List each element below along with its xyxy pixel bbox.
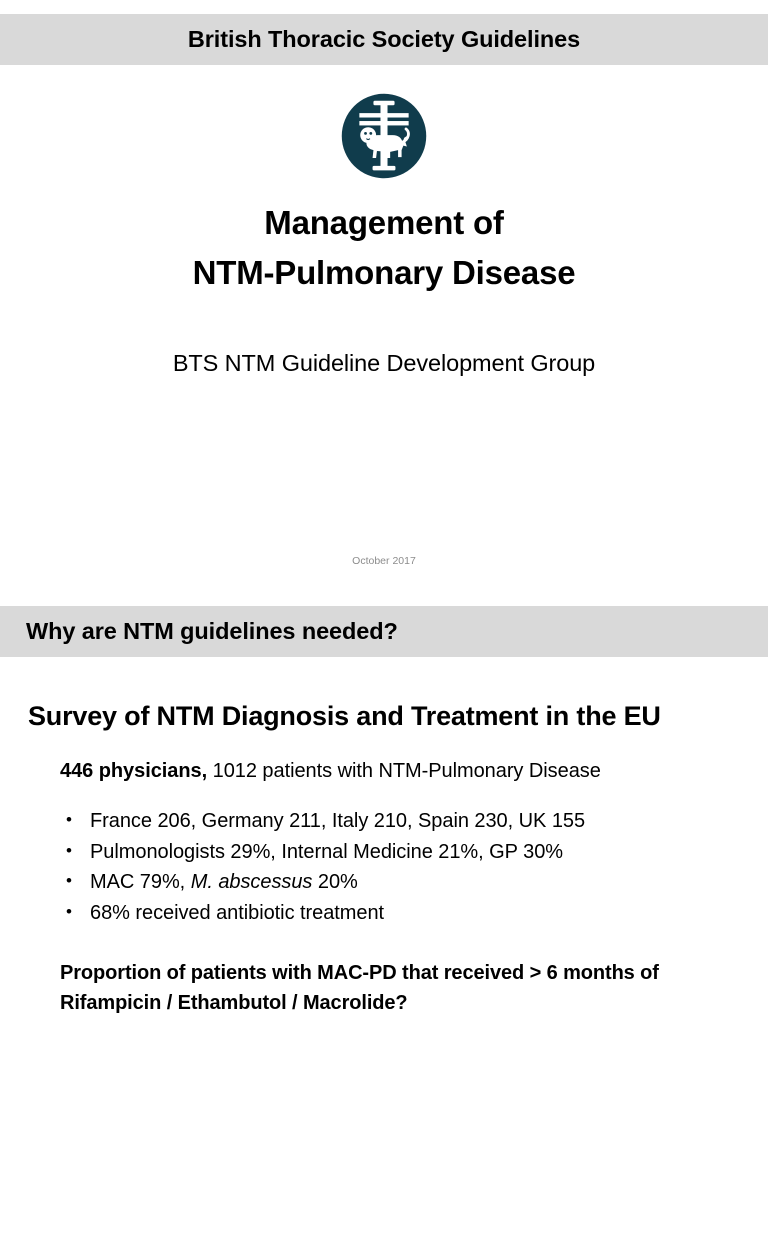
list-item: France 206, Germany 211, Italy 210, Spai… (60, 806, 768, 836)
slide2-banner-title: Why are NTM guidelines needed? (26, 618, 398, 645)
page-title: Management of NTM-Pulmonary Disease (0, 198, 768, 298)
question-block: Proportion of patients with MAC-PD that … (60, 958, 768, 1019)
lead-rest: 1012 patients with NTM-Pulmonary Disease (207, 760, 601, 782)
bullet-text-pre: MAC 79%, (90, 871, 191, 893)
date-stamp: October 2017 (0, 555, 768, 567)
list-item: Pulmonologists 29%, Internal Medicine 21… (60, 837, 768, 867)
title-line-1: Management of (0, 198, 768, 248)
bullet-text-species: M. abscessus (191, 871, 313, 893)
bullet-text: 68% received antibiotic treatment (90, 902, 384, 924)
slide-title: British Thoracic Society Guidelines (0, 14, 768, 606)
lead-line: 446 physicians, 1012 patients with NTM-P… (60, 756, 768, 786)
bullet-text: Pulmonologists 29%, Internal Medicine 21… (90, 841, 563, 863)
question-line-2: Rifampicin / Ethambutol / Macrolide? (60, 988, 768, 1018)
lead-bold-part: 446 physicians, (60, 760, 207, 782)
subtitle: BTS NTM Guideline Development Group (0, 350, 768, 377)
logo-container (0, 92, 768, 180)
slide-deck: British Thoracic Society Guidelines (0, 14, 768, 1063)
bts-crest-logo-icon (340, 92, 428, 180)
survey-bullet-list: France 206, Germany 211, Italy 210, Spai… (60, 806, 768, 928)
slide1-banner-title: British Thoracic Society Guidelines (188, 26, 580, 53)
question-line-1: Proportion of patients with MAC-PD that … (60, 958, 768, 988)
list-item: MAC 79%, M. abscessus 20% (60, 867, 768, 897)
content-heading: Survey of NTM Diagnosis and Treatment in… (28, 701, 768, 732)
slide2-banner: Why are NTM guidelines needed? (0, 606, 768, 657)
bullet-text: France 206, Germany 211, Italy 210, Spai… (90, 810, 585, 832)
slide-survey: Why are NTM guidelines needed? Survey of… (0, 606, 768, 1063)
title-line-2: NTM-Pulmonary Disease (0, 248, 768, 298)
slide1-banner: British Thoracic Society Guidelines (0, 14, 768, 65)
body-content: 446 physicians, 1012 patients with NTM-P… (0, 756, 768, 1063)
list-item: 68% received antibiotic treatment (60, 898, 768, 928)
bullet-text-post: 20% (312, 871, 357, 893)
page-bottom-clip (0, 1038, 768, 1238)
